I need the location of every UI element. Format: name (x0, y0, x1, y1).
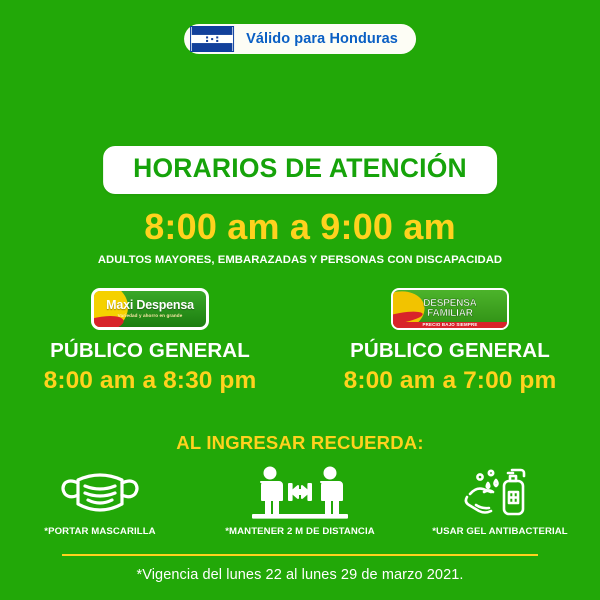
footer-divider (62, 554, 538, 556)
df-public-hours: 8:00 am a 7:00 pm (344, 368, 557, 394)
honduras-flag-icon (190, 26, 234, 52)
despensa-familiar-logo: DESPENSA FAMILIAR PRECIO BAJO SIEMPRE (391, 288, 509, 330)
reminders-list: *PORTAR MASCARILLA *MANTENER 2 M DE DIST… (0, 464, 600, 537)
maxi-despensa-tagline: Variedad y ahorro en grande (118, 314, 183, 319)
df-public-label: PÚBLICO GENERAL (350, 340, 550, 362)
store-maxi-despensa: Maxi Despensa Variedad y ahorro en grand… (0, 288, 300, 393)
maxi-despensa-logo: Maxi Despensa Variedad y ahorro en grand… (91, 288, 209, 330)
priority-audience: ADULTOS MAYORES, EMBARAZADAS Y PERSONAS … (0, 254, 600, 266)
reminder-face-mask: *PORTAR MASCARILLA (0, 464, 200, 537)
priority-hours: 8:00 am a 9:00 am (0, 208, 600, 246)
store-hours-section: Maxi Despensa Variedad y ahorro en grand… (0, 288, 600, 393)
reminder-social-distance-label: *MANTENER 2 M DE DISTANCIA (225, 526, 375, 537)
validity-badge-text: Válido para Honduras (246, 31, 398, 47)
social-distance-icon (245, 464, 355, 520)
reminder-face-mask-label: *PORTAR MASCARILLA (44, 526, 155, 537)
footer-validity-note: *Vigencia del lunes 22 al lunes 29 de ma… (0, 567, 600, 583)
despensa-familiar-tagline: PRECIO BAJO SIEMPRE (393, 322, 507, 328)
reminder-social-distance: *MANTENER 2 M DE DISTANCIA (200, 464, 400, 537)
face-mask-icon (52, 464, 148, 520)
validity-badge: Válido para Honduras (184, 24, 416, 54)
hand-sanitizer-icon (450, 464, 550, 520)
maxi-public-label: PÚBLICO GENERAL (50, 340, 250, 362)
page-title: HORARIOS DE ATENCIÓN (133, 155, 467, 183)
maxi-despensa-brand: Maxi Despensa (106, 299, 194, 312)
store-despensa-familiar: DESPENSA FAMILIAR PRECIO BAJO SIEMPRE PÚ… (300, 288, 600, 393)
reminder-hand-sanitizer-label: *USAR GEL ANTIBACTERIAL (432, 526, 568, 537)
reminder-hand-sanitizer: *USAR GEL ANTIBACTERIAL (400, 464, 600, 537)
despensa-familiar-brand-line2: FAMILIAR (427, 309, 473, 319)
promo-poster: Válido para Honduras HORARIOS DE ATENCIÓ… (0, 0, 600, 600)
page-title-box: HORARIOS DE ATENCIÓN (103, 146, 497, 194)
reminders-heading: AL INGRESAR RECUERDA: (0, 432, 600, 454)
maxi-public-hours: 8:00 am a 8:30 pm (44, 368, 257, 394)
